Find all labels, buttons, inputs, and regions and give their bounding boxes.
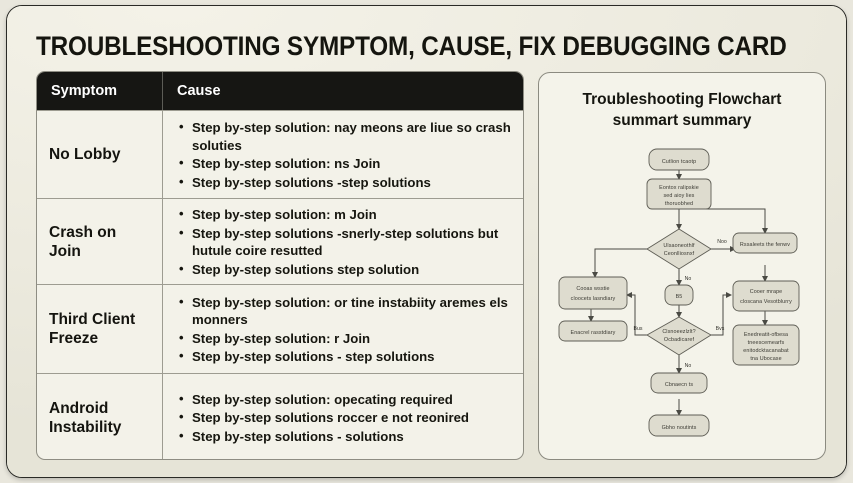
flow-node-bottom-1-label: Cbnaecn ts [665, 382, 693, 388]
flow-node-left-1[interactable] [559, 277, 627, 309]
flow-node-left-1-line1: Cooas wsstie [576, 286, 609, 292]
list-item: Step by-step solutions - step solutions [179, 348, 513, 366]
flow-node-gather-line2: sed aioy lies [664, 193, 695, 199]
symptom-cell: Third Client Freeze [37, 285, 163, 373]
flow-node-right-3-line1: Enedreatit-ofbesa [744, 332, 788, 338]
flow-decision-2[interactable] [647, 317, 711, 355]
list-item: Step by-step solutions roccer e not reon… [179, 409, 513, 427]
cause-bullet-list: Step by-step solution: opecating require… [179, 391, 513, 447]
list-item: Step by-step solution: or tine instabiit… [179, 294, 513, 329]
flow-decision-1-line1: Ulsaoneothlf [663, 243, 695, 249]
flowchart-panel: Troubleshooting Flowchart summart summar… [538, 72, 826, 460]
flow-decision-2-line1: Clsnoeezlzlt? [662, 329, 695, 335]
edge-label-decision1-yes: Noo [717, 239, 727, 245]
list-item: Step by-step solutions step solution [179, 261, 513, 279]
list-item: Step by-step solutions -step solutions [179, 174, 513, 192]
flow-node-right-2-line2: closcana Vesotblurry [740, 299, 792, 305]
table-row: Crash on Join Step by-step solution: m J… [37, 198, 523, 284]
table-row: No Lobby Step by-step solution: nay meon… [37, 110, 523, 198]
list-item: Step by-step solution: m Join [179, 206, 513, 224]
flow-node-right-3-line2: tneescemearfs [748, 340, 785, 346]
cause-cell: Step by-step solution: opecating require… [163, 374, 523, 460]
list-item: Step by-step solution: nay meons are liu… [179, 119, 513, 154]
list-item: Step by-step solutions - solutions [179, 428, 513, 446]
flow-node-gather-line1: Eontox ralipskie [659, 185, 699, 191]
flow-node-right-3-line3: enitodcktacanabat [743, 348, 789, 354]
table-row: Third Client Freeze Step by-step solutio… [37, 284, 523, 373]
list-item: Step by-step solution: ns Join [179, 155, 513, 173]
flow-decision-2-line2: Ocbadicaref [664, 337, 695, 343]
flow-node-right-2-line1: Cooer mrape [750, 289, 783, 295]
cause-bullet-list: Step by-step solution: m Join Step by-st… [179, 206, 513, 279]
table-row: Android Instability Step by-step solutio… [37, 373, 523, 460]
cause-cell: Step by-step solution: or tine instabiit… [163, 285, 523, 373]
flow-node-right-1-label: Rssaleets the fenwv [740, 242, 790, 248]
edge-label-decision1-no: No [685, 276, 692, 282]
symptom-cause-table: Symptom Cause No Lobby Step by-step solu… [36, 71, 524, 460]
list-item: Step by-step solution: r Join [179, 330, 513, 348]
column-header-symptom: Symptom [37, 72, 163, 110]
flow-decision-1[interactable] [647, 229, 711, 269]
screenshot-root: Troubleshooting Symptom, Cause, Fix Debu… [0, 0, 853, 483]
flow-node-start-label: Cutlion tcaotp [662, 159, 696, 165]
symptom-cell: Crash on Join [37, 199, 163, 284]
symptom-cell: Android Instability [37, 374, 163, 460]
list-item: Step by-step solutions -snerly-step solu… [179, 225, 513, 260]
flow-decision-1-line2: Ceonlliosnxf [664, 251, 695, 257]
edge-label-decision2-right: Bvs [716, 326, 725, 332]
column-header-cause: Cause [163, 72, 523, 110]
edge-label-decision2-no: No [685, 363, 692, 369]
cause-bullet-list: Step by-step solution: or tine instabiit… [179, 294, 513, 367]
cause-bullet-list: Step by-step solution: nay meons are liu… [179, 119, 513, 192]
edge-gather-to-right [679, 209, 765, 233]
flowchart-diagram: Cutlion tcaotp Eontox ralipskie sed aioy… [539, 73, 827, 461]
flow-node-gather-line3: thoruobhed [665, 201, 693, 207]
flow-node-right-3-line4: tna Ubocase [750, 356, 781, 362]
cause-cell: Step by-step solution: nay meons are liu… [163, 111, 523, 198]
flow-node-mid-label: B5 [676, 294, 683, 300]
table-header-row: Symptom Cause [37, 72, 523, 110]
list-item: Step by-step solution: opecating require… [179, 391, 513, 409]
edge-decision1-to-left1 [595, 249, 647, 277]
symptom-cell: No Lobby [37, 111, 163, 198]
flow-node-left-2-label: Enacrel rasstdiary [571, 330, 616, 336]
edge-label-decision2-left: Bus [634, 326, 643, 332]
debugging-card: Troubleshooting Symptom, Cause, Fix Debu… [6, 5, 847, 478]
cause-cell: Step by-step solution: m Join Step by-st… [163, 199, 523, 284]
flow-node-right-2[interactable] [733, 281, 799, 311]
flow-node-bottom-2-label: Gbho noutints [662, 425, 697, 431]
card-surface: Troubleshooting Symptom, Cause, Fix Debu… [7, 6, 846, 477]
page-title: Troubleshooting Symptom, Cause, Fix Debu… [36, 31, 666, 61]
flow-node-left-1-line2: cloocets lasndiary [571, 296, 616, 302]
